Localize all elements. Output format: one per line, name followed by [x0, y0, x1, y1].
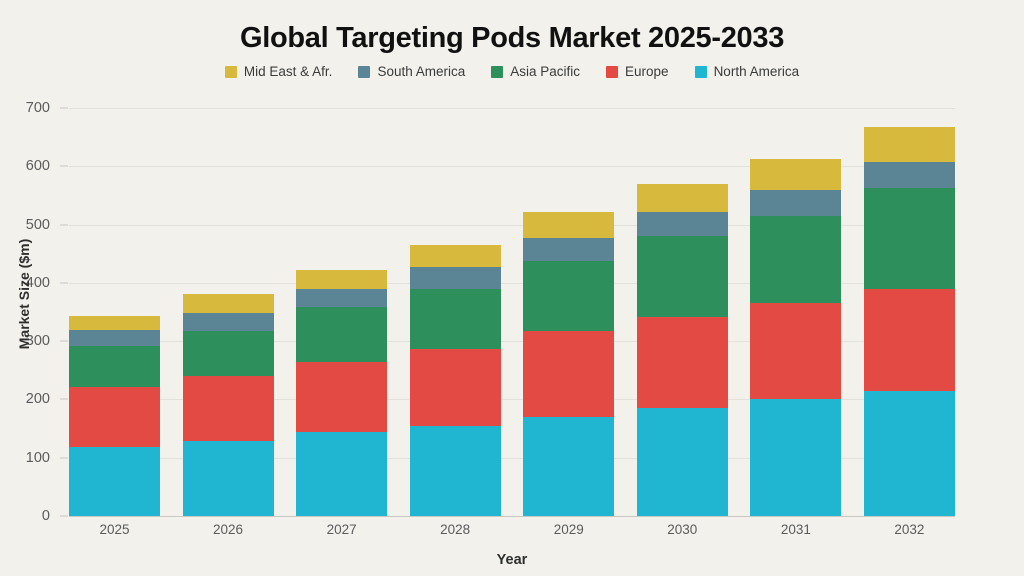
legend-label: Mid East & Afr.	[244, 64, 333, 79]
bar-segment[interactable]	[410, 289, 501, 348]
x-tick-label: 2025	[69, 522, 160, 537]
bar-stack[interactable]	[69, 108, 160, 516]
bar-stack[interactable]	[183, 108, 274, 516]
bar-segment[interactable]	[410, 349, 501, 426]
x-axis-labels: 20252026202720282029203020312032	[69, 522, 955, 537]
bar-segment[interactable]	[637, 212, 728, 236]
x-tick-label: 2028	[410, 522, 501, 537]
bar-segment[interactable]	[750, 159, 841, 190]
y-tick-label: 0	[42, 508, 50, 524]
bar-segment[interactable]	[864, 391, 955, 516]
legend-swatch-icon	[606, 66, 618, 78]
bar-segment[interactable]	[523, 238, 614, 261]
bar-segment[interactable]	[296, 432, 387, 517]
x-axis-title: Year	[0, 552, 1024, 568]
bar-segment[interactable]	[864, 289, 955, 391]
x-tick-label: 2026	[183, 522, 274, 537]
x-tick-label: 2027	[296, 522, 387, 537]
bar-segment[interactable]	[69, 316, 160, 331]
legend-swatch-icon	[225, 66, 237, 78]
bar-stack[interactable]	[864, 108, 955, 516]
chart-canvas: Global Targeting Pods Market 2025-2033 M…	[0, 0, 1024, 576]
bar-segment[interactable]	[750, 303, 841, 399]
bar-segment[interactable]	[69, 346, 160, 387]
bar-segment[interactable]	[183, 376, 274, 441]
legend-item[interactable]: Mid East & Afr.	[225, 64, 333, 79]
legend-label: South America	[377, 64, 465, 79]
bar-segment[interactable]	[864, 188, 955, 288]
bar-segment[interactable]	[523, 331, 614, 417]
bar-stack[interactable]	[410, 108, 501, 516]
bar-segment[interactable]	[523, 212, 614, 238]
bar-segment[interactable]	[523, 417, 614, 516]
bar-segment[interactable]	[750, 216, 841, 303]
bar-segment[interactable]	[69, 447, 160, 516]
x-tick-label: 2032	[864, 522, 955, 537]
bar-segment[interactable]	[296, 307, 387, 361]
bar-segment[interactable]	[750, 190, 841, 216]
y-tick-mark	[60, 341, 68, 342]
bar-segment[interactable]	[637, 184, 728, 212]
bar-segment[interactable]	[750, 399, 841, 516]
bar-segment[interactable]	[410, 426, 501, 516]
bar-segment[interactable]	[69, 387, 160, 447]
legend-label: Asia Pacific	[510, 64, 580, 79]
bar-segment[interactable]	[637, 317, 728, 409]
y-tick-mark	[60, 166, 68, 167]
legend-item[interactable]: Asia Pacific	[491, 64, 580, 79]
bar-segment[interactable]	[864, 162, 955, 188]
y-tick-mark	[60, 108, 68, 109]
legend-item[interactable]: Europe	[606, 64, 669, 79]
y-tick-mark	[60, 282, 68, 283]
y-axis-title: Market Size ($m)	[16, 184, 32, 404]
bar-segment[interactable]	[523, 261, 614, 331]
y-tick-mark	[60, 457, 68, 458]
x-tick-label: 2031	[750, 522, 841, 537]
bar-segment[interactable]	[183, 294, 274, 313]
bar-segment[interactable]	[69, 330, 160, 346]
legend-item[interactable]: South America	[358, 64, 465, 79]
y-tick-label: 600	[26, 158, 50, 174]
x-tick-label: 2029	[523, 522, 614, 537]
bar-segment[interactable]	[183, 313, 274, 330]
bar-segment[interactable]	[637, 236, 728, 316]
bar-segment[interactable]	[296, 270, 387, 289]
bar-segment[interactable]	[637, 408, 728, 516]
legend-swatch-icon	[695, 66, 707, 78]
bar-segment[interactable]	[183, 331, 274, 376]
bar-group	[69, 108, 955, 516]
bar-segment[interactable]	[410, 245, 501, 267]
bar-stack[interactable]	[296, 108, 387, 516]
bar-segment[interactable]	[410, 267, 501, 289]
bar-segment[interactable]	[183, 441, 274, 516]
bar-stack[interactable]	[637, 108, 728, 516]
legend-label: North America	[714, 64, 800, 79]
legend-item[interactable]: North America	[695, 64, 800, 79]
plot-area	[69, 108, 955, 516]
y-tick-label: 100	[26, 450, 50, 466]
legend-swatch-icon	[491, 66, 503, 78]
y-tick-mark	[60, 516, 68, 517]
legend-label: Europe	[625, 64, 669, 79]
bar-segment[interactable]	[296, 289, 387, 308]
y-tick-mark	[60, 399, 68, 400]
chart-legend: Mid East & Afr.South AmericaAsia Pacific…	[0, 64, 1024, 79]
x-tick-label: 2030	[637, 522, 728, 537]
bar-stack[interactable]	[523, 108, 614, 516]
y-tick-mark	[60, 224, 68, 225]
chart-title: Global Targeting Pods Market 2025-2033	[0, 22, 1024, 55]
bar-segment[interactable]	[296, 362, 387, 432]
bar-segment[interactable]	[864, 127, 955, 162]
y-tick-label: 700	[26, 100, 50, 116]
bar-stack[interactable]	[750, 108, 841, 516]
legend-swatch-icon	[358, 66, 370, 78]
